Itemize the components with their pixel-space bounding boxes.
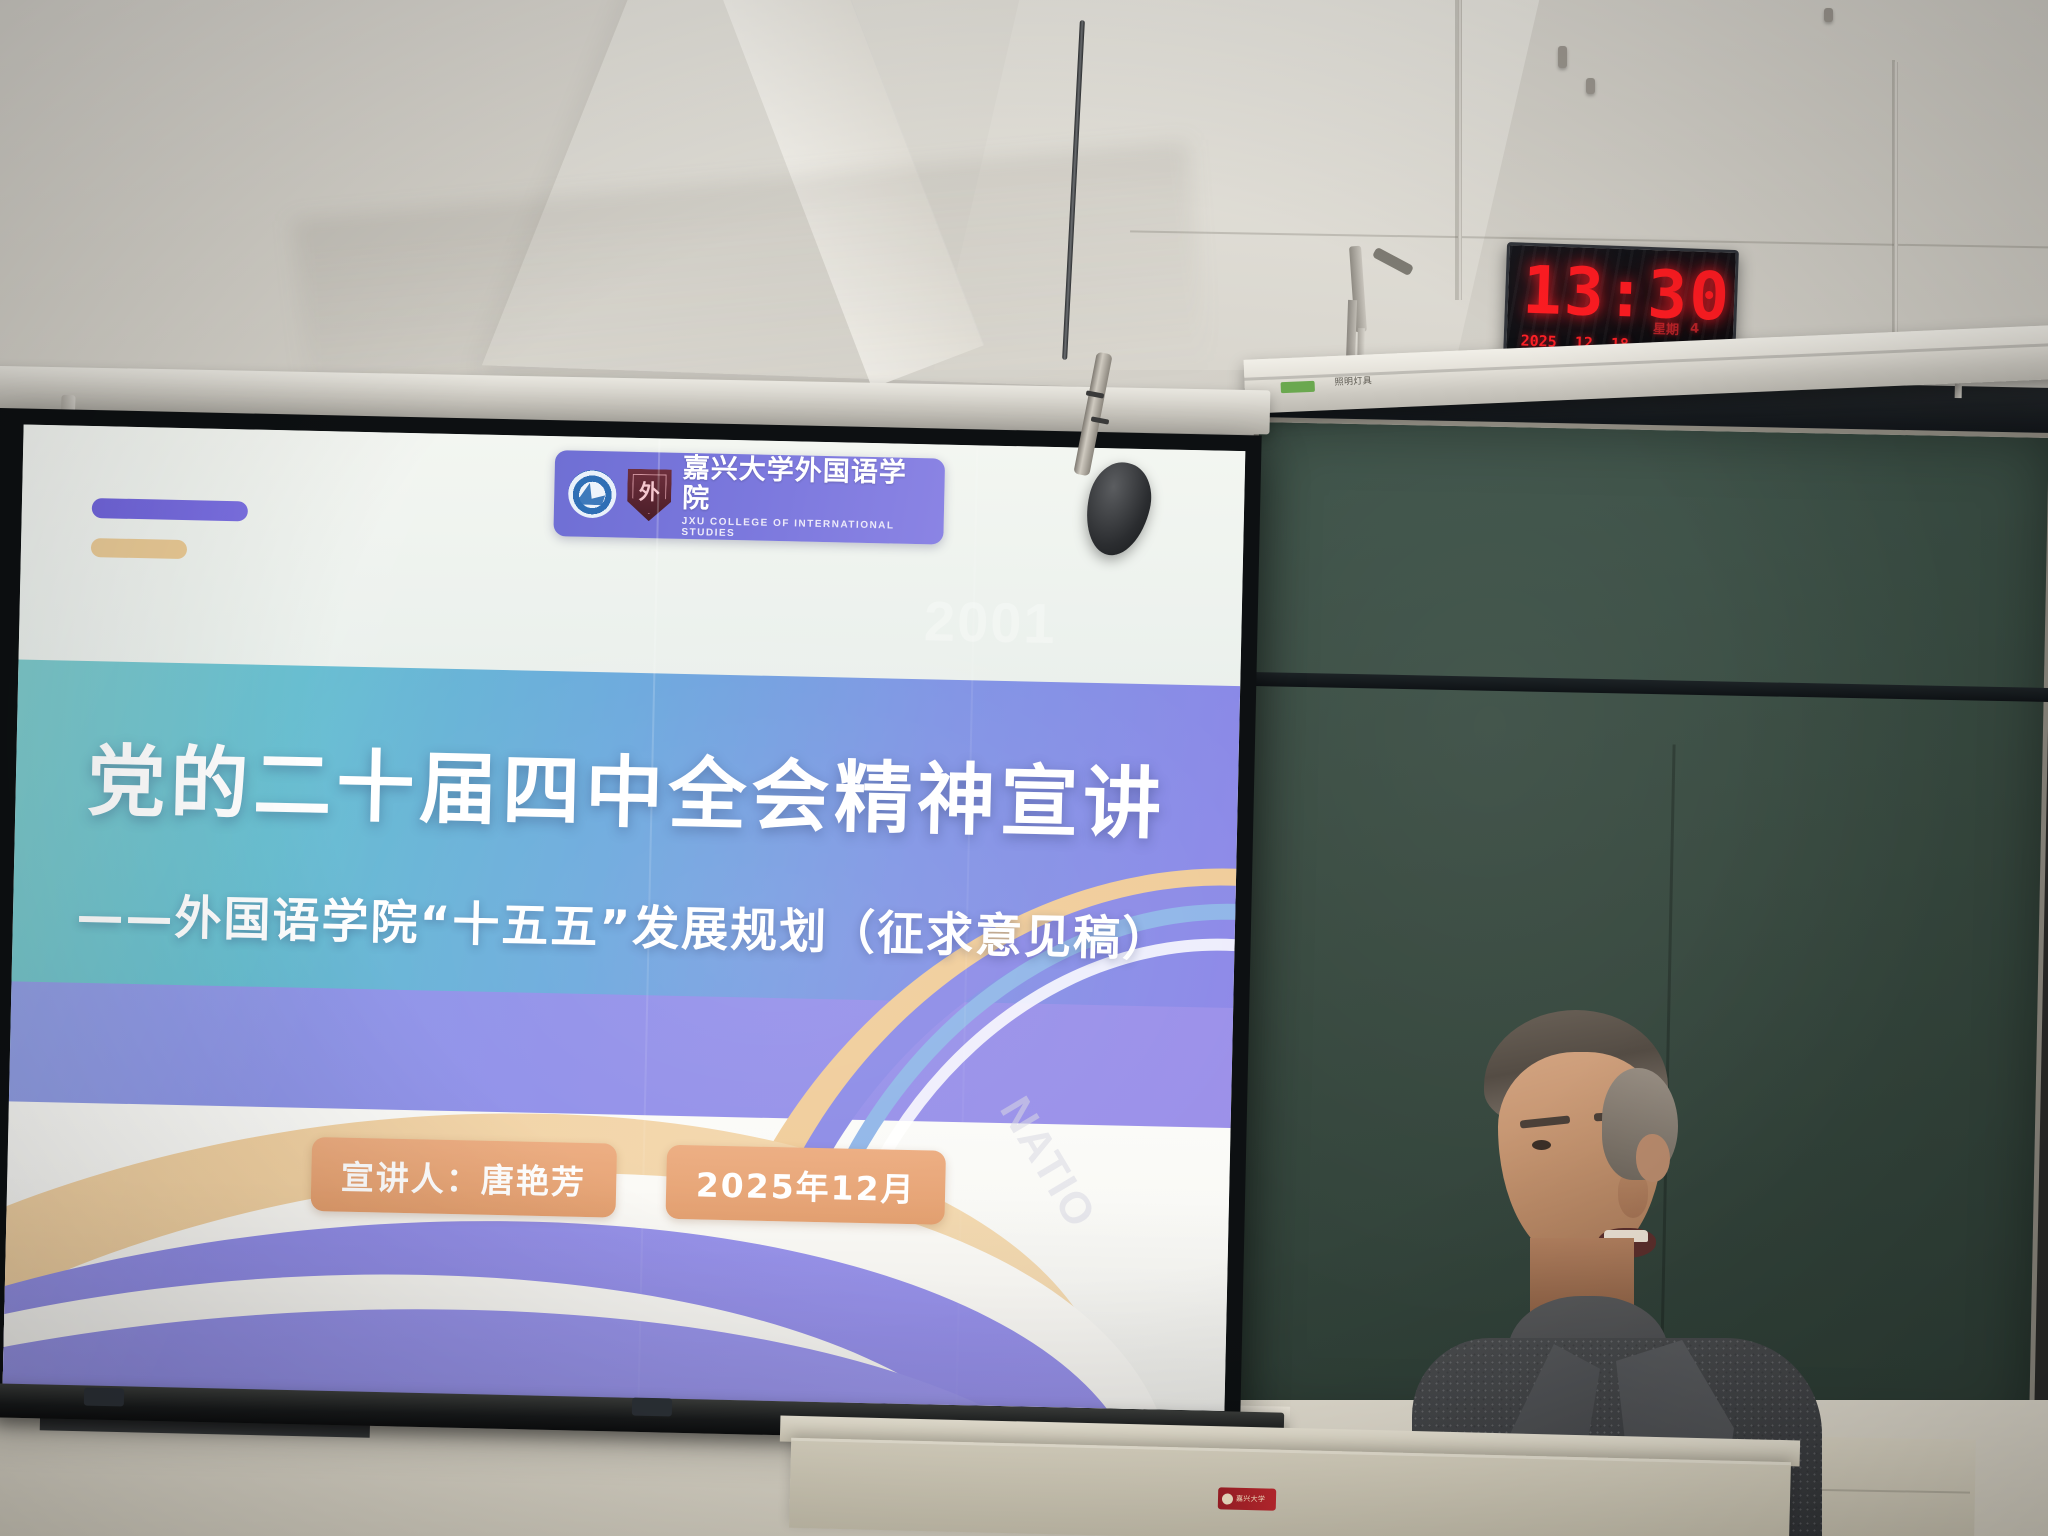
person-eye: [1532, 1140, 1551, 1150]
logo-text-group: 嘉兴大学外国语学院 JXU COLLEGE OF INTERNATIONAL S…: [681, 454, 931, 543]
date-pill: 2025年12月: [665, 1144, 946, 1224]
ceiling-hook-icon: [1558, 46, 1567, 68]
photo-scene: 13:30 59 2025 12 18 星期 4 照明灯具: [0, 0, 2048, 1536]
accent-bar-tan: [91, 538, 187, 559]
clock-weekday-number: 4: [1690, 321, 1700, 336]
university-seal-icon: [568, 469, 617, 518]
clock-weekday-label: 星期: [1653, 318, 1680, 338]
ceiling-hook-icon: [1586, 78, 1595, 94]
ceiling-hook-icon: [1824, 8, 1833, 22]
light-sticker-icon: [1281, 381, 1315, 393]
light-label: 照明灯具: [1334, 373, 1372, 388]
person-ear: [1636, 1134, 1670, 1182]
screen-weight-knob: [632, 1398, 672, 1417]
projected-slide: 2001 NATIO 外 嘉兴大学外国语学院 JXU COLLEGE OF IN…: [3, 425, 1246, 1411]
podium-logo-badge: 嘉兴大学: [1218, 1487, 1277, 1510]
college-logo-banner: 外 嘉兴大学外国语学院 JXU COLLEGE OF INTERNATIONAL…: [553, 450, 945, 544]
logo-chinese-name: 嘉兴大学外国语学院: [682, 454, 931, 518]
logo-english-name: JXU COLLEGE OF INTERNATIONAL STUDIES: [681, 516, 929, 543]
screen-weight-knob: [84, 1388, 124, 1407]
podium-badge-emblem-icon: [1222, 1493, 1233, 1504]
accent-bar-purple: [92, 498, 248, 521]
projection-screen: 2001 NATIO 外 嘉兴大学外国语学院 JXU COLLEGE OF IN…: [0, 408, 1262, 1430]
person-eyebrow: [1520, 1115, 1571, 1128]
slide-canvas: 2001 NATIO 外 嘉兴大学外国语学院 JXU COLLEGE OF IN…: [3, 425, 1246, 1411]
presenter-pill: 宣讲人：唐艳芳: [310, 1137, 617, 1218]
clock-time: 13:30: [1521, 252, 1732, 336]
podium-badge-text: 嘉兴大学: [1236, 1494, 1265, 1505]
college-shield-icon: 外: [627, 469, 672, 522]
hanging-cable: [1458, 0, 1462, 300]
